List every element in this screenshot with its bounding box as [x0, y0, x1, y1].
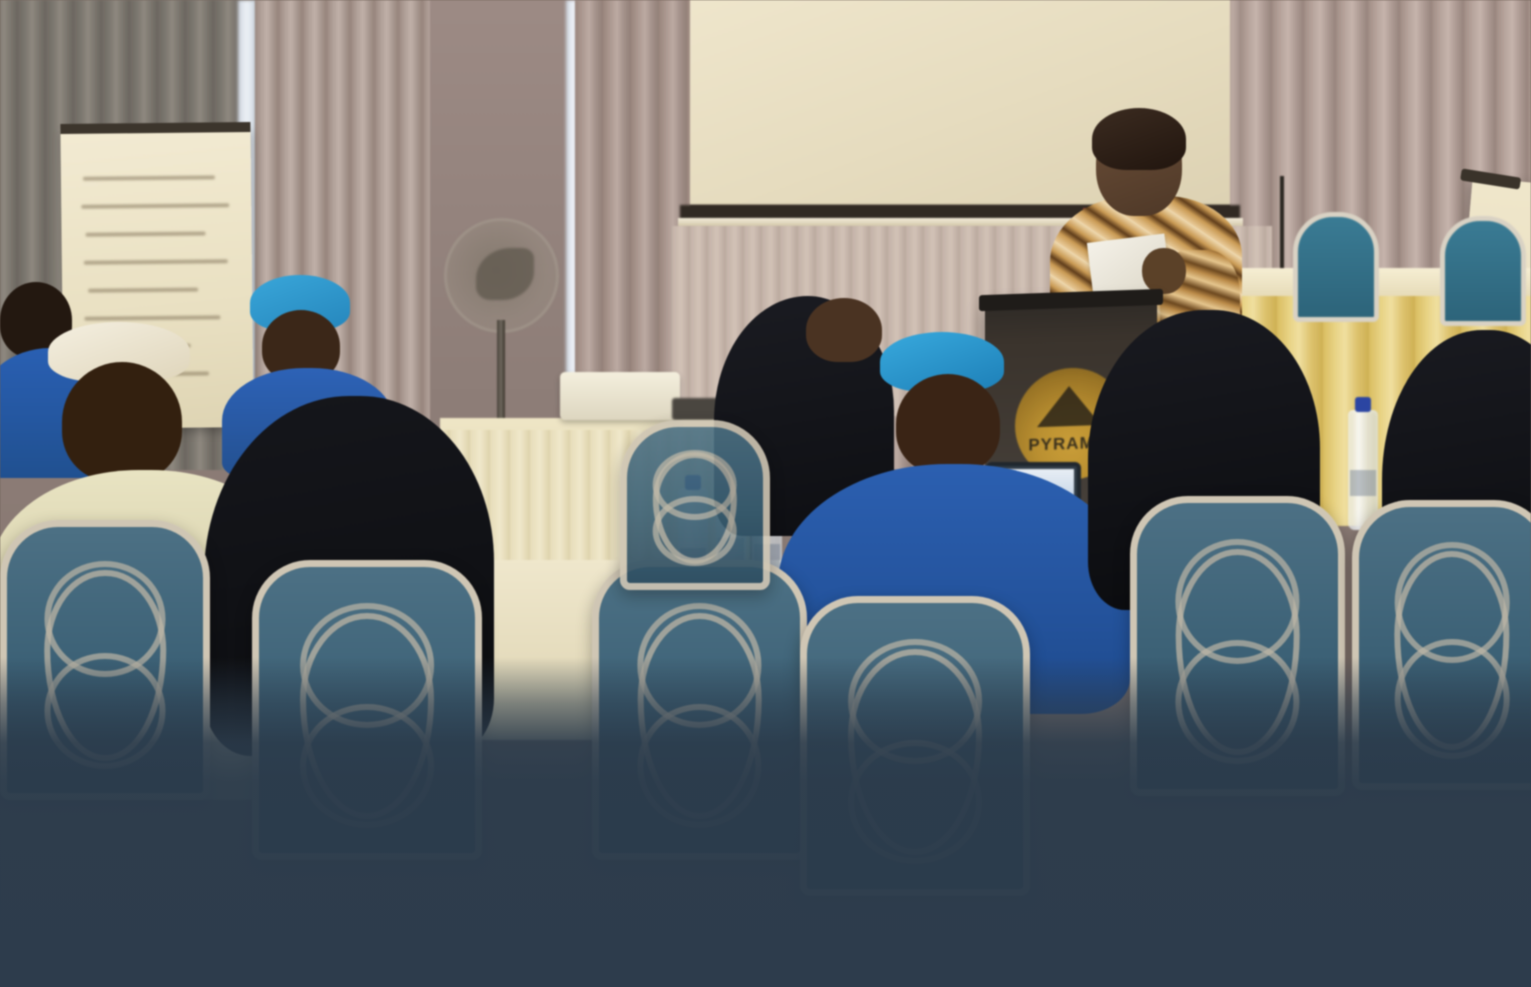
attendee-head: [806, 298, 882, 362]
speaker-hand: [1142, 248, 1186, 294]
microphone-stand-1: [1280, 176, 1284, 268]
head-table-chair-2: [1440, 216, 1526, 326]
flipchart-clip: [60, 122, 250, 134]
attendee-head: [896, 374, 1000, 474]
projector: [560, 372, 680, 420]
attendee-head: [62, 362, 182, 482]
brand-footer: የኢትዮጵያ ሰብአዊ መብቶች ኮሚሽን ETHIOPIAN HUMAN RI…: [0, 720, 1531, 987]
chair-back-pattern: [653, 452, 737, 564]
banquet-chair: [620, 420, 770, 590]
banner-canvas: ③ ④ ⑤ →: [0, 0, 1531, 987]
head-table-chair-1: [1293, 212, 1379, 322]
speaker-hair: [1092, 108, 1186, 170]
